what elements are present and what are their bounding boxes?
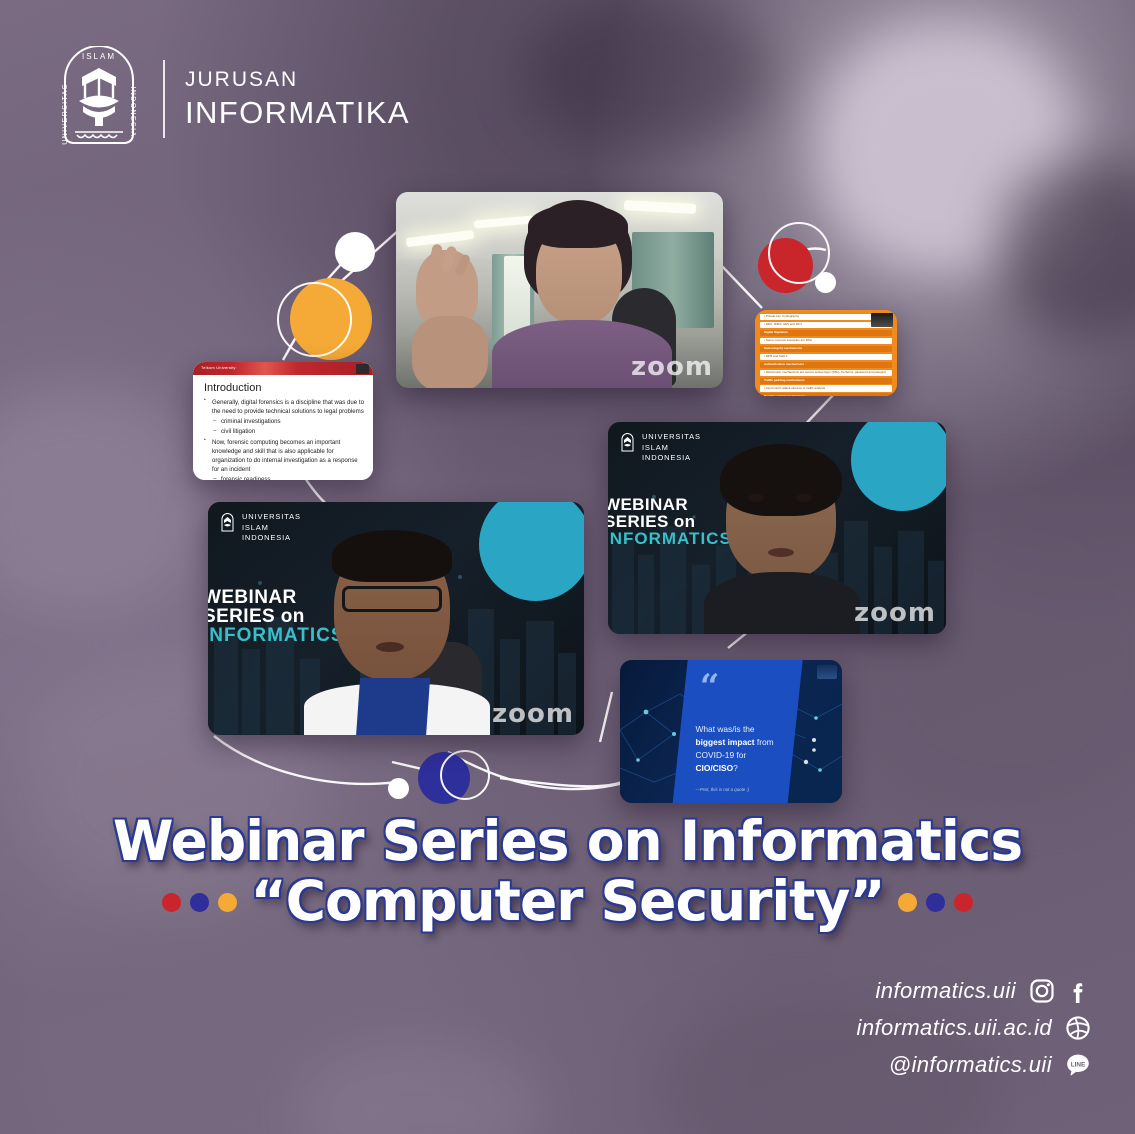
uii-seal-icon: ISLAM UNIVERSITAS INDONESIA: [55, 46, 143, 151]
contact-block: informatics.uii informatics.uii.ac.id: [857, 978, 1091, 1089]
orange-slide-section-header: Data integrity mechanisms: [760, 346, 892, 352]
card-zoom-participant-male-speaker[interactable]: UNIVERSITAS ISLAM INDONESIA WEBINAR SERI…: [208, 502, 584, 735]
facebook-icon[interactable]: [1065, 978, 1091, 1004]
title-line-1: Webinar Series on Informatics: [0, 812, 1135, 871]
quote-footnote: —Psst, this is not a quote :): [695, 787, 749, 792]
video-frame-top: zoom: [396, 192, 723, 388]
contact-row-line: @informatics.uii LINE: [857, 1052, 1091, 1078]
slide-bullet: criminal investigations: [204, 417, 364, 426]
title-dot: [162, 893, 181, 912]
card-zoom-participant-purple-shirt[interactable]: zoom: [396, 192, 723, 388]
slide-banner-label: Telkom University: [201, 365, 236, 370]
webinar-poster: ISLAM UNIVERSITAS INDONESIA JURUSAN INFO…: [0, 0, 1135, 1134]
brand-line-2: INFORMATIKA: [185, 97, 410, 128]
quote-slide: “ What was/is the biggest impact from CO…: [620, 660, 842, 803]
title-dot: [898, 893, 917, 912]
uii-mark-icon: [220, 512, 235, 534]
brand-line-1: JURUSAN: [185, 69, 410, 90]
title-dot: [926, 893, 945, 912]
svg-text:ISLAM: ISLAM: [82, 52, 116, 61]
title-dots-right: [898, 893, 973, 912]
quote-bold-2: CIO/CISO: [695, 763, 733, 773]
slide-logo-corner: [356, 364, 369, 374]
contact-row-instagram: informatics.uii: [857, 978, 1091, 1004]
hair-front: [528, 204, 628, 248]
contact-icons: [1029, 978, 1091, 1004]
website-icon[interactable]: [1065, 1015, 1091, 1041]
white-dot-upper-left: [335, 232, 375, 272]
jacket-collar: [356, 678, 430, 735]
slide-bullet: civil litigation: [204, 427, 364, 436]
eye-right: [796, 494, 812, 502]
svg-text:LINE: LINE: [1071, 1061, 1086, 1068]
mouth: [376, 642, 404, 652]
line-icon[interactable]: LINE: [1065, 1052, 1091, 1078]
orange-slide-item: • Some common examples are RSA: [760, 338, 892, 344]
orange-slide-logo-corner: [871, 313, 893, 327]
slide-title: Introduction: [204, 382, 261, 394]
slide-bullet: Generally, digital forensics is a discip…: [204, 398, 364, 416]
slide-body: Generally, digital forensics is a discip…: [204, 398, 364, 480]
card-orange-slide[interactable]: • Private-key cryptography• DES, 3DES, A…: [755, 310, 897, 396]
hair: [720, 444, 842, 516]
title-line-2-row: “Computer Security”: [0, 871, 1135, 933]
eye-left: [748, 494, 764, 502]
orange-slide-section-header: Digital Signature: [760, 330, 892, 336]
contact-icons: LINE: [1065, 1052, 1091, 1078]
contact-icons: [1065, 1015, 1091, 1041]
blue-circle-ring: [440, 750, 490, 800]
card-blue-quote-slide[interactable]: “ What was/is the biggest impact from CO…: [620, 660, 842, 803]
orange-slide-item: • Well-known mechanisms are secure socke…: [760, 370, 892, 376]
quote-bold-1: biggest impact: [695, 737, 754, 747]
vb-text-informatics: INFORMATICS: [608, 530, 732, 548]
svg-text:UNIVERSITAS: UNIVERSITAS: [62, 83, 69, 145]
uii-background-logo: UNIVERSITAS ISLAM INDONESIA: [620, 432, 701, 464]
title-dot: [954, 893, 973, 912]
uii-background-logo: UNIVERSITAS ISLAM INDONESIA: [220, 512, 301, 544]
white-dot-lower-left: [388, 778, 409, 799]
quote-line-1-tail: from: [755, 737, 774, 747]
uii-mark-icon: [620, 432, 635, 454]
orange-slide-section-header: Routing control mechanisms: [760, 393, 892, 396]
white-dot-upper-right: [815, 272, 836, 293]
poster-title: Webinar Series on Informatics “Computer …: [0, 812, 1135, 933]
title-dot: [218, 893, 237, 912]
mouth: [768, 548, 794, 557]
slide-bullet: forensic readiness: [204, 475, 364, 480]
svg-text:INDONESIA: INDONESIA: [129, 86, 136, 137]
contact-row-website: informatics.uii.ac.id: [857, 1015, 1091, 1041]
video-frame-right: UNIVERSITAS ISLAM INDONESIA WEBINAR SERI…: [608, 422, 946, 634]
torso: [704, 572, 860, 634]
vb-text-informatics: INFORMATICS: [208, 626, 345, 647]
brand-lockup: ISLAM UNIVERSITAS INDONESIA JURUSAN INFO…: [55, 46, 410, 151]
orange-circle-ring: [277, 282, 352, 357]
title-line-2: “Computer Security”: [251, 871, 885, 933]
quote-line-2-tail: ?: [733, 763, 738, 773]
orange-slide-section-header: Authentication mechanisms: [760, 362, 892, 368]
uii-logo-words: UNIVERSITAS ISLAM INDONESIA: [642, 432, 701, 464]
quote-slide-logo-corner: [817, 665, 837, 679]
slide-bullet-list: Generally, digital forensics is a discip…: [204, 398, 364, 480]
quote-text: What was/is the biggest impact from COVI…: [695, 723, 793, 775]
zoom-watermark-top: zoom: [631, 352, 713, 382]
orange-slide-item: • MD5 and SHA-1: [760, 354, 892, 360]
contact-handle: informatics.uii: [876, 978, 1016, 1004]
contact-line-id: @informatics.uii: [889, 1052, 1052, 1078]
uii-logo-words: UNIVERSITAS ISLAM INDONESIA: [242, 512, 301, 544]
forearm: [412, 316, 488, 388]
telkom-slide: Telkom University Introduction Generally…: [193, 362, 373, 480]
quote-line-2: COVID-19 for: [695, 750, 746, 760]
zoom-watermark-left: zoom: [492, 699, 574, 729]
card-zoom-participant-female-speaker[interactable]: UNIVERSITAS ISLAM INDONESIA WEBINAR SERI…: [608, 422, 946, 634]
quote-mark-icon: “: [700, 677, 720, 697]
eyeglasses-icon: [342, 586, 442, 612]
zoom-watermark-right: zoom: [854, 598, 936, 628]
slide-bullet: Now, forensic computing becomes an impor…: [204, 438, 364, 475]
brand-divider: [163, 60, 165, 138]
contact-website: informatics.uii.ac.id: [857, 1015, 1052, 1041]
hair: [332, 530, 452, 582]
brand-text: JURUSAN INFORMATIKA: [185, 69, 410, 128]
orange-slide-item: • Asymmetric attack-streams or traffic a…: [760, 385, 892, 391]
instagram-icon[interactable]: [1029, 978, 1055, 1004]
title-dot: [190, 893, 209, 912]
orange-slide-section-header: Traffic padding mechanisms: [760, 378, 892, 384]
card-intro-slide[interactable]: Telkom University Introduction Generally…: [193, 362, 373, 480]
title-dots-left: [162, 893, 237, 912]
video-frame-left: UNIVERSITAS ISLAM INDONESIA WEBINAR SERI…: [208, 502, 584, 735]
quote-line-1: What was/is the: [695, 724, 754, 734]
